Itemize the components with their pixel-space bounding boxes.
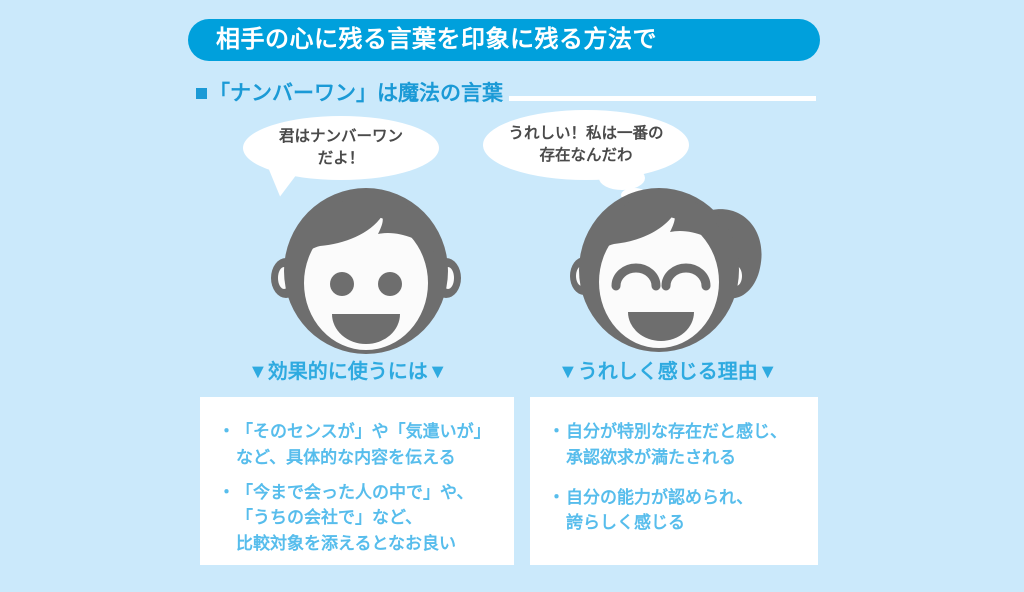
subheading-label: 「ナンバーワン」は魔法の言葉 xyxy=(209,83,503,104)
list-item: ・ 自分の能力が認められ、 誇らしく感じる xyxy=(548,485,802,537)
girl-character-illustration xyxy=(562,176,774,358)
slide-title-bar: 相手の心に残る言葉を印象に残る方法で xyxy=(188,19,820,61)
thought-bubble-right-text: うれしい！私は一番の 存在なんだわ xyxy=(508,123,663,168)
list-item: ・ 「そのセンスが」や「気遣いが」 など、具体的な内容を伝える xyxy=(218,419,498,471)
bullet-dot-icon: ・ xyxy=(218,480,235,506)
list-item: ・ 自分が特別な存在だと感じ、 承認欲求が満たされる xyxy=(548,419,802,471)
boy-character-illustration xyxy=(270,186,462,356)
slide-canvas: 相手の心に残る言葉を印象に残る方法で 「ナンバーワン」は魔法の言葉 君はナンバー… xyxy=(0,0,1024,592)
thought-bubble-right-body: うれしい！私は一番の 存在なんだわ xyxy=(483,110,689,180)
page-title: 相手の心に残る言葉を印象に残る方法で xyxy=(188,28,657,52)
list-item-text: 自分が特別な存在だと感じ、 承認欲求が満たされる xyxy=(566,419,787,471)
bullet-dot-icon: ・ xyxy=(548,485,565,511)
list-item-text: 「今まで会った人の中で」や、 「うちの会社で」など、 比較対象を添えるとなお良い xyxy=(236,480,474,557)
content-box-left: ・ 「そのセンスが」や「気遣いが」 など、具体的な内容を伝える ・ 「今まで会っ… xyxy=(200,397,514,565)
content-box-right: ・ 自分が特別な存在だと感じ、 承認欲求が満たされる ・ 自分の能力が認められ、… xyxy=(530,397,818,565)
bullet-dot-icon: ・ xyxy=(548,419,565,445)
subheading-row: 「ナンバーワン」は魔法の言葉 xyxy=(196,78,816,108)
subheading-rule xyxy=(509,96,816,101)
speech-bubble-left: 君はナンバーワン だよ！ xyxy=(243,116,439,180)
speech-bubble-left-body: 君はナンバーワン だよ！ xyxy=(243,116,439,180)
bullet-dot-icon: ・ xyxy=(218,419,235,445)
list-item-text: 「そのセンスが」や「気遣いが」 など、具体的な内容を伝える xyxy=(236,419,491,471)
column-heading-right: ▼うれしく感じる理由▼ xyxy=(558,362,778,382)
square-marker-icon xyxy=(196,88,207,99)
column-heading-left: ▼効果的に使うには▼ xyxy=(248,362,448,382)
boy-avatar-icon xyxy=(270,186,462,356)
girl-avatar-icon xyxy=(562,176,774,358)
list-item-text: 自分の能力が認められ、 誇らしく感じる xyxy=(566,485,753,537)
thought-bubble-right: うれしい！私は一番の 存在なんだわ xyxy=(483,110,689,180)
speech-bubble-left-text: 君はナンバーワン だよ！ xyxy=(279,126,403,171)
list-item: ・ 「今まで会った人の中で」や、 「うちの会社で」など、 比較対象を添えるとなお… xyxy=(218,480,498,557)
